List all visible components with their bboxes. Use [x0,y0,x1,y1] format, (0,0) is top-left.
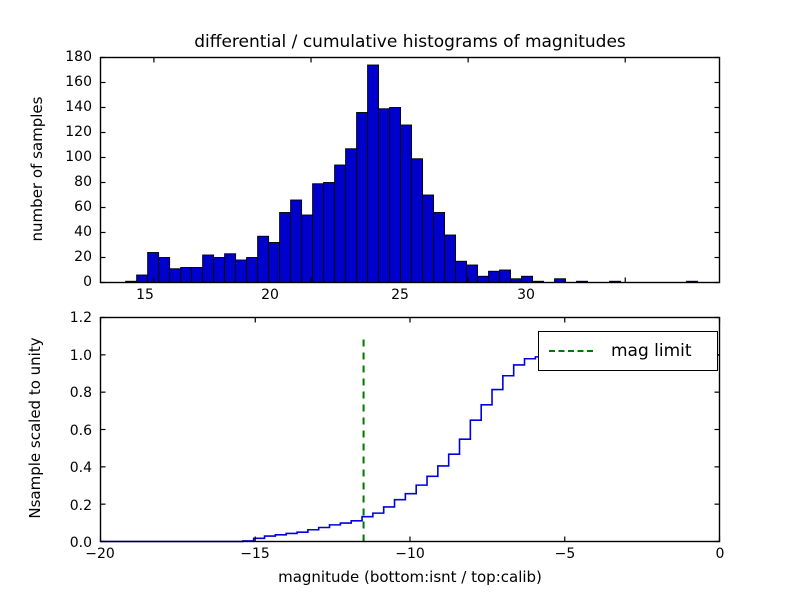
bottom-ytick-0p6: 0.6 [44,423,92,439]
histogram-bar [181,268,192,283]
histogram-bar [335,165,346,283]
matplotlib-figure: differential / cumulative histograms of … [0,0,800,600]
top-axes-title: differential / cumulative histograms of … [100,32,720,52]
top-ytick-80: 80 [44,174,92,190]
histogram-bar [423,195,434,283]
histogram-bar [467,265,478,283]
histogram-bar [302,215,313,283]
histogram-bar [126,281,137,282]
bottom-ytick-0p8: 0.8 [44,385,92,401]
histogram-bar [291,200,302,283]
histogram-bar [357,113,368,283]
histogram-bar [137,275,148,283]
top-xtick-25: 25 [380,287,420,303]
bottom-ytick-1p2: 1.2 [44,310,92,326]
histogram-bar [687,281,698,282]
histogram-bar [203,255,214,283]
top-ytick-60: 60 [44,199,92,215]
histogram-bar [511,279,522,283]
bottom-xtick-m15: −15 [235,546,275,562]
bottom-xtick-m10: −10 [390,546,430,562]
histogram-bar [456,261,467,282]
top-axes-ticks [101,58,720,283]
top-ytick-100: 100 [44,149,92,165]
bottom-axes-xlabel: magnitude (bottom:isnt / top:calib) [100,568,720,586]
histogram-bar [500,270,511,283]
top-ytick-140: 140 [44,99,92,115]
histogram-bar [368,65,379,283]
histogram-bar [577,281,588,282]
histogram-bar [313,184,324,283]
top-ytick-20: 20 [44,249,92,265]
bottom-xtick-0: 0 [700,546,740,562]
histogram-bar [610,281,621,282]
histogram-bar [390,108,401,283]
histogram-bar [225,254,236,283]
bottom-axes-ylabel: Nsample scaled to unity [26,315,44,541]
bottom-xtick-m5: −5 [545,546,585,562]
bottom-ytick-0p2: 0.2 [44,498,92,514]
histogram-bar [214,258,225,283]
histogram-bar [445,235,456,283]
histogram-bar [379,109,390,283]
top-xtick-30: 30 [506,287,546,303]
histogram-bar [555,279,566,283]
mag-limit-dashed-line-icon [549,350,593,352]
top-ytick-40: 40 [44,224,92,240]
cumulative-step-line [101,355,720,542]
histogram-bar [489,271,500,282]
top-xtick-15: 15 [125,287,165,303]
histogram-bar [346,149,357,283]
legend[interactable]: mag limit [538,331,718,371]
histogram-bar [170,269,181,283]
histogram-bar [236,260,247,283]
histogram-bar [148,253,159,283]
histogram-bar [247,258,258,283]
histogram-bar [269,243,280,283]
histogram-bars [126,65,698,283]
histogram-bar [192,268,203,283]
top-axes-frame [101,58,720,283]
histogram-bar [478,276,489,282]
histogram-bar [522,276,533,282]
top-ytick-0: 0 [44,274,92,290]
top-ytick-120: 120 [44,124,92,140]
histogram-bar [258,236,269,282]
top-ytick-160: 160 [44,74,92,90]
top-ytick-180: 180 [44,49,92,65]
histogram-bar [280,213,291,283]
histogram-bar [412,159,423,283]
legend-label-mag-limit: mag limit [611,341,692,361]
histogram-bar [434,213,445,283]
top-xtick-20: 20 [250,287,290,303]
histogram-bar [533,281,544,282]
bottom-ytick-0p4: 0.4 [44,460,92,476]
histogram-bar [401,125,412,283]
histogram-bar [324,183,335,283]
bottom-xtick-m20: −20 [80,546,120,562]
histogram-bar [159,258,170,283]
bottom-ytick-1p0: 1.0 [44,348,92,364]
